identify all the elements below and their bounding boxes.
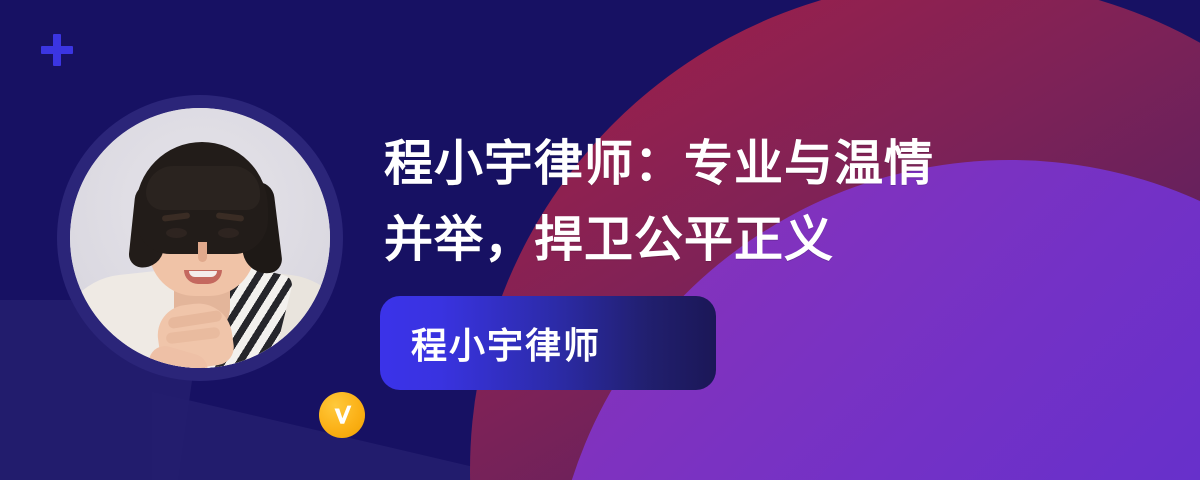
promo-banner: 程小宇律师：专业与温情 并举，捍卫公平正义 程小宇律师 — [0, 0, 1200, 480]
avatar — [57, 95, 343, 381]
avatar-photo — [70, 108, 330, 368]
lawyer-name-label: 程小宇律师 — [380, 317, 601, 369]
lawyer-name-tag[interactable]: 程小宇律师 — [380, 296, 716, 390]
plus-icon — [41, 34, 73, 66]
headline-block: 程小宇律师：专业与温情 并举，捍卫公平正义 — [384, 126, 1084, 278]
verified-badge-icon — [319, 392, 365, 438]
page-title: 程小宇律师：专业与温情 并举，捍卫公平正义 — [384, 126, 1084, 278]
